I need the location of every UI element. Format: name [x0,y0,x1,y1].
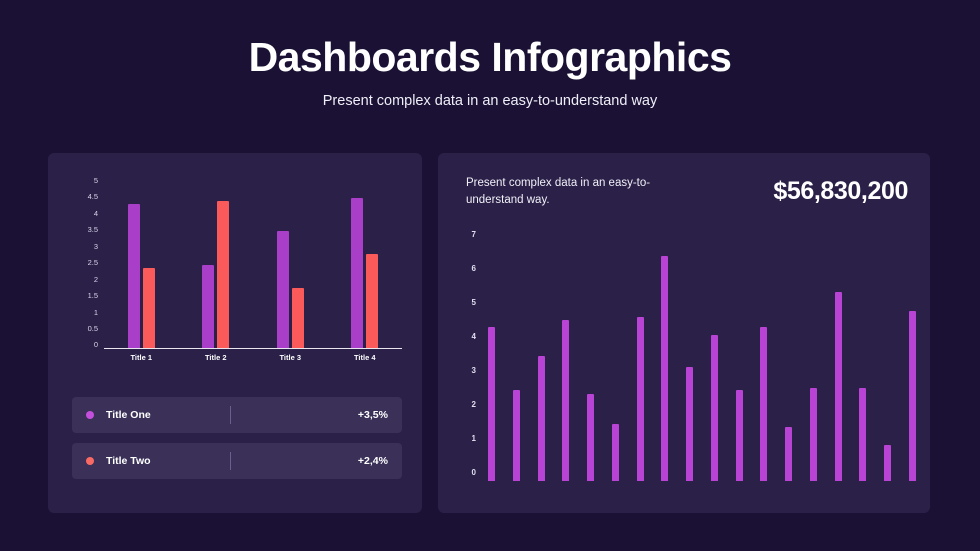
legend-label: Title One [106,409,151,421]
left-chart-y-axis: 54.543.532.521.510.50 [72,177,98,349]
right-chart-y-tick: 1 [472,435,476,443]
bar [785,427,792,481]
bar [202,265,214,349]
left-chart-x-tick: Title 3 [279,353,301,362]
left-chart-y-tick: 5 [94,177,98,185]
right-chart-y-tick: 6 [472,265,476,273]
bar [859,388,866,481]
right-panel-description: Present complex data in an easy-to-under… [466,175,686,208]
slide-header: Dashboards Infographics Present complex … [0,34,980,109]
bar-group [351,181,378,348]
grouped-bar-chart: 54.543.532.521.510.50 Title 1Title 2Titl… [72,177,402,373]
right-panel-header: Present complex data in an easy-to-under… [466,175,908,208]
bar [488,327,495,481]
bar [760,327,767,481]
left-chart-plot-area [104,181,402,349]
left-chart-panel: 54.543.532.521.510.50 Title 1Title 2Titl… [48,153,422,513]
bar [128,204,140,348]
bar [366,254,378,348]
bar [587,394,594,482]
bar [277,231,289,348]
bar [736,390,743,481]
bar [513,390,520,481]
legend-divider [230,406,231,424]
left-chart-y-tick: 2.5 [88,259,98,267]
bar [351,198,363,348]
right-chart-y-axis: 76543210 [458,231,476,477]
left-chart-y-tick: 1.5 [88,292,98,300]
right-chart-y-tick: 4 [472,333,476,341]
bar [562,320,569,481]
bar [810,388,817,481]
legend-label: Title Two [106,455,151,467]
left-chart-x-axis: Title 1Title 2Title 3Title 4 [104,353,402,362]
right-chart-panel: Present complex data in an easy-to-under… [438,153,930,513]
bar [661,256,668,481]
bar [686,367,693,481]
left-chart-y-tick: 1 [94,309,98,317]
chart-legend: Title One+3,5%Title Two+2,4% [72,397,402,489]
legend-row[interactable]: Title Two+2,4% [72,443,402,479]
left-chart-x-tick: Title 4 [354,353,376,362]
left-chart-x-tick: Title 1 [130,353,152,362]
bar [711,335,718,481]
legend-divider [230,452,231,470]
right-chart-y-tick: 0 [472,469,476,477]
page-subtitle: Present complex data in an easy-to-under… [0,93,980,109]
page-title: Dashboards Infographics [0,34,980,81]
bar-group [202,181,229,348]
legend-row[interactable]: Title One+3,5% [72,397,402,433]
left-chart-y-tick: 2 [94,276,98,284]
left-chart-y-tick: 0 [94,341,98,349]
bar [637,317,644,481]
right-chart-y-tick: 3 [472,367,476,375]
right-chart-plot-area [488,231,916,481]
column-chart: 76543210 [458,229,916,491]
bar [612,424,619,481]
left-chart-y-tick: 0.5 [88,325,98,333]
right-panel-value: $56,830,200 [773,177,908,206]
left-chart-y-tick: 3.5 [88,226,98,234]
right-chart-y-tick: 7 [472,231,476,239]
bar [884,445,891,481]
left-chart-y-tick: 4 [94,210,98,218]
bar [217,201,229,348]
left-chart-y-tick: 3 [94,243,98,251]
bar-group [277,181,304,348]
bar [292,288,304,348]
bar-group [128,181,155,348]
bar [538,356,545,481]
slide: Dashboards Infographics Present complex … [0,0,980,551]
right-chart-y-tick: 5 [472,299,476,307]
left-chart-y-tick: 4.5 [88,193,98,201]
bar [143,268,155,348]
legend-dot-icon [86,457,94,465]
legend-value: +2,4% [358,455,388,467]
legend-dot-icon [86,411,94,419]
bar [909,311,916,481]
legend-value: +3,5% [358,409,388,421]
bar [835,292,842,481]
left-chart-x-tick: Title 2 [205,353,227,362]
right-chart-y-tick: 2 [472,401,476,409]
